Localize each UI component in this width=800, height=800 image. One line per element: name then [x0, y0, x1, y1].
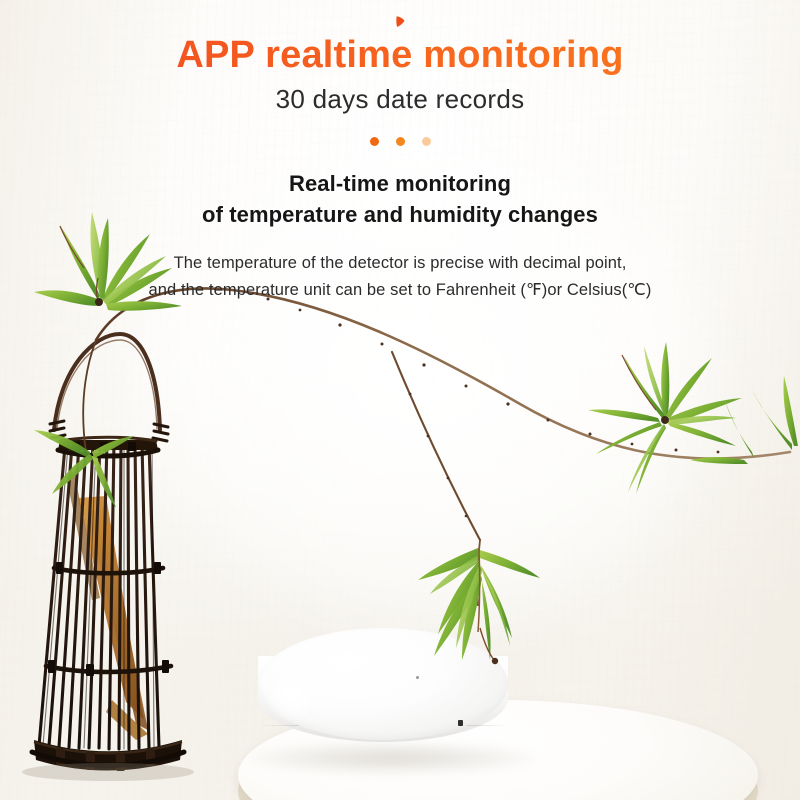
body-copy-line-2: and the temperature unit can be set to F…	[0, 277, 800, 304]
device-highlight	[263, 664, 321, 726]
orange-triangle-marker-icon	[392, 14, 408, 30]
device-port-icon	[458, 720, 463, 726]
dot-2	[396, 137, 405, 146]
dot-indicator-group	[340, 137, 460, 146]
section-heading: Real-time monitoring of temperature and …	[0, 168, 800, 230]
section-body-copy: The temperature of the detector is preci…	[0, 250, 800, 303]
dot-1	[370, 137, 379, 146]
body-copy-line-1: The temperature of the detector is preci…	[0, 250, 800, 277]
section-heading-line-2: of temperature and humidity changes	[0, 199, 800, 230]
section-heading-line-1: Real-time monitoring	[0, 168, 800, 199]
smart-temperature-humidity-sensor	[258, 628, 508, 758]
page-subtitle: 30 days date records	[0, 84, 800, 115]
device-led-icon	[416, 676, 419, 679]
dot-3	[422, 137, 431, 146]
promo-text-block: APP realtime monitoring 30 days date rec…	[0, 0, 800, 304]
bamboo-lantern-basket	[8, 300, 218, 800]
promo-image-stage: APP realtime monitoring 30 days date rec…	[0, 0, 800, 800]
page-title: APP realtime monitoring	[0, 36, 800, 76]
